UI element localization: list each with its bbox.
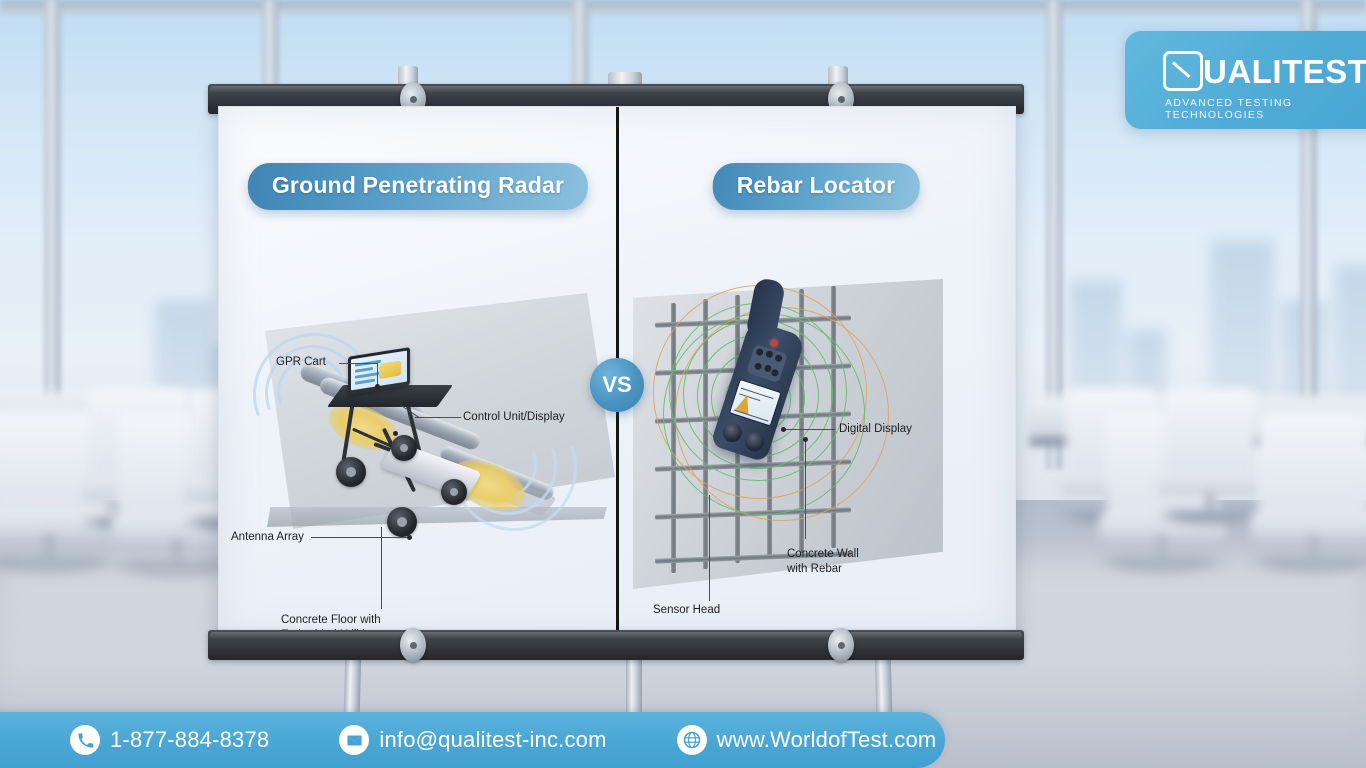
contact-website-text: www.WorldofTest.com — [717, 727, 937, 753]
leader-line — [415, 417, 461, 418]
leader-dot — [781, 427, 786, 432]
label-digital-display: Digital Display — [839, 422, 912, 437]
laptop-tray — [327, 385, 453, 407]
leader-line — [785, 429, 835, 430]
leader-line — [311, 537, 409, 538]
leader-line — [339, 363, 377, 364]
cart-wheel — [441, 479, 467, 505]
leader-line — [709, 495, 710, 601]
label-concrete-wall: Concrete Wall with Rebar — [787, 547, 859, 577]
cart-wheel — [391, 435, 417, 461]
leader-line — [805, 439, 806, 539]
scanner-led-icon — [770, 339, 779, 348]
presentation-scene: Ground Penetrating Radar — [0, 0, 1366, 768]
brand-logo-badge[interactable]: UALITEST™ ADVANCED TESTING TECHNOLOGIES — [1125, 31, 1366, 129]
laptop-chart — [379, 361, 401, 379]
cart-wheel — [336, 457, 366, 487]
brand-name: UALITEST™ — [1203, 55, 1366, 88]
phone-icon — [70, 725, 100, 755]
scanner-digital-display — [729, 379, 782, 427]
globe-icon — [677, 725, 707, 755]
leader-dot — [375, 384, 380, 389]
leader-line — [381, 527, 382, 609]
leader-dot — [803, 437, 808, 442]
label-antenna-array: Antenna Array — [231, 530, 304, 545]
board-knob — [828, 628, 854, 662]
office-chair — [1258, 412, 1366, 580]
contact-phone[interactable]: 1-877-884-8378 — [70, 725, 269, 755]
q-square-icon — [1163, 51, 1203, 91]
leader-dot — [393, 431, 398, 436]
scanner-keypad — [746, 344, 788, 383]
board-bottom-rail — [208, 630, 1024, 660]
rebar-illustration: Digital Display Concrete Wall with Rebar… — [617, 107, 1015, 639]
envelope-icon — [339, 725, 369, 755]
panel-gpr[interactable]: Ground Penetrating Radar — [219, 107, 617, 639]
gpr-illustration: GPR Cart Control Unit/Display Antenna Ar… — [219, 107, 617, 639]
contact-bar: 1-877-884-8378 info@qualitest-inc.com ww… — [0, 712, 945, 768]
scanner-wheels — [720, 421, 768, 454]
brand-logo-row: UALITEST™ — [1163, 51, 1366, 91]
label-sensor-head: Sensor Head — [653, 603, 720, 618]
panel-rebar[interactable]: Rebar Locator — [617, 107, 1015, 639]
board-knob — [400, 628, 426, 662]
contact-email[interactable]: info@qualitest-inc.com — [339, 725, 606, 755]
vs-badge: VS — [590, 358, 644, 412]
cart-wheel — [387, 507, 417, 537]
presentation-board: Ground Penetrating Radar — [208, 78, 1024, 666]
label-control-unit: Control Unit/Display — [463, 410, 565, 425]
label-gpr-cart: GPR Cart — [276, 355, 326, 370]
office-chair — [1164, 388, 1256, 530]
brand-tagline: ADVANCED TESTING TECHNOLOGIES — [1165, 97, 1366, 121]
board-canvas: Ground Penetrating Radar — [218, 106, 1016, 640]
contact-email-text: info@qualitest-inc.com — [379, 727, 606, 753]
contact-website[interactable]: www.WorldofTest.com — [677, 725, 937, 755]
leader-dot — [407, 535, 412, 540]
contact-phone-text: 1-877-884-8378 — [110, 727, 269, 753]
